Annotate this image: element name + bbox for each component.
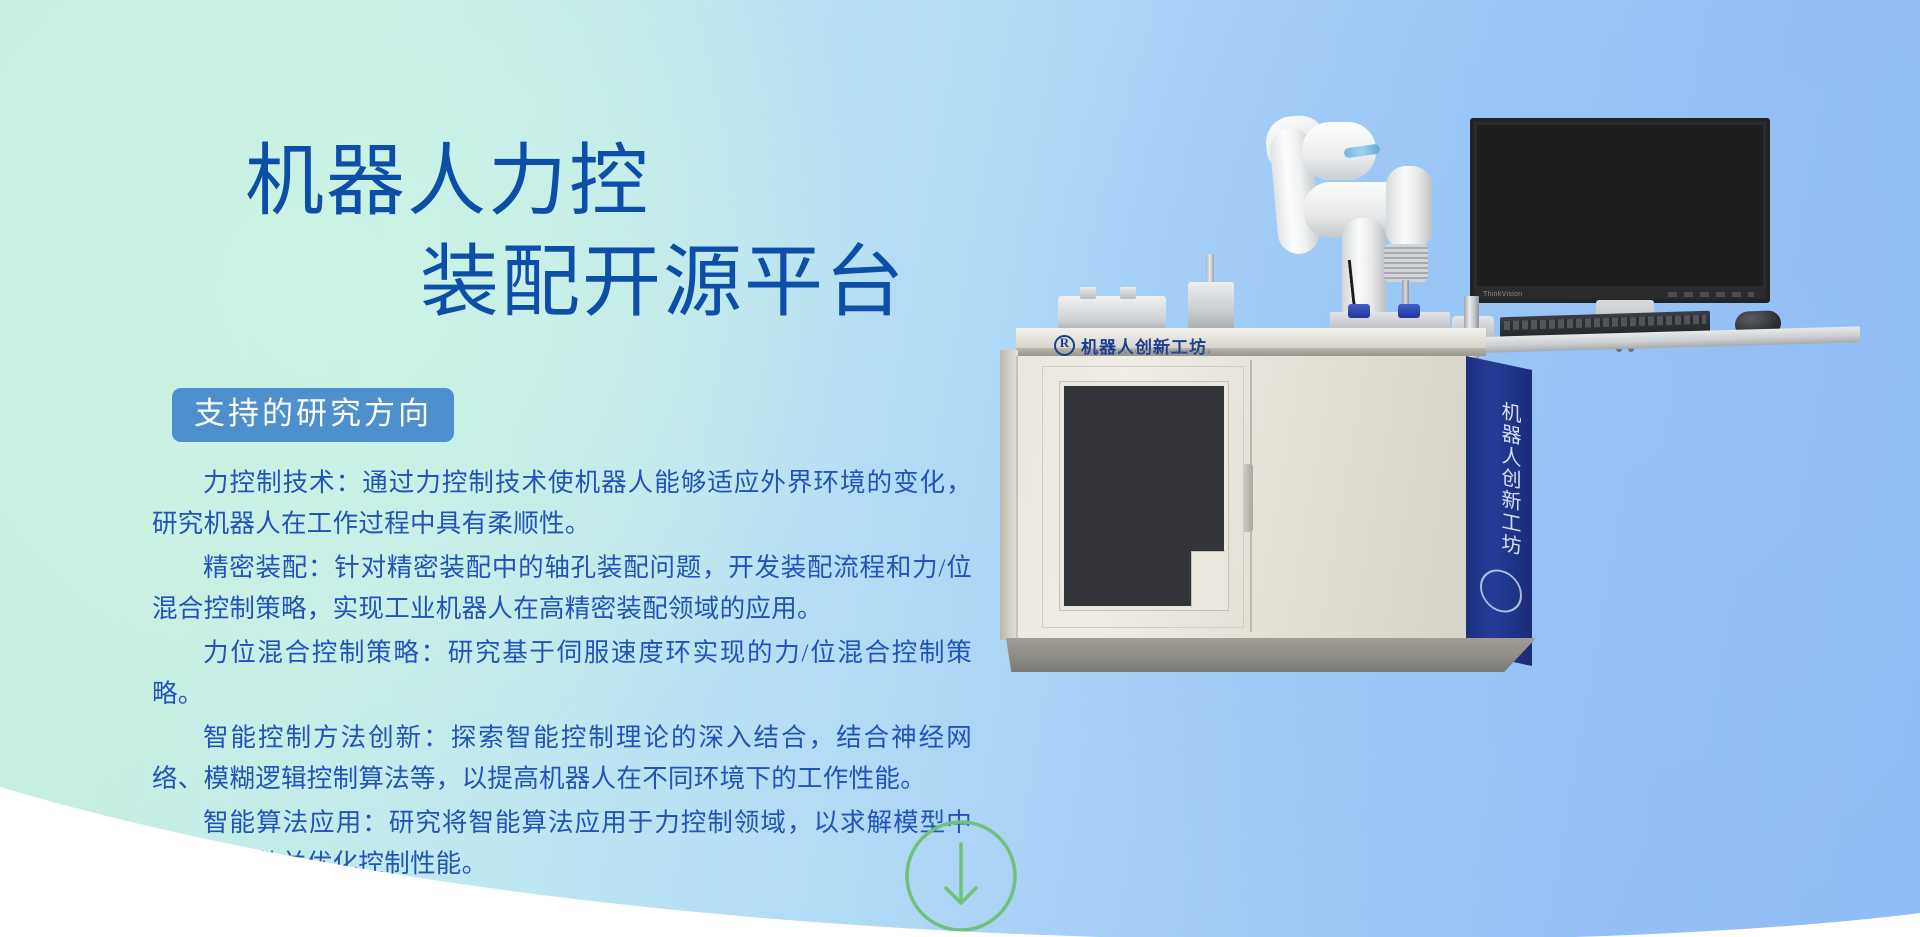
machine-photo: ThinkVision [1000,100,1860,790]
hero-text-column: 机器人力控 装配开源平台 支持的研究方向 力控制技术：通过力控制技术使机器人能够… [0,0,1010,937]
section-badge: 支持的研究方向 [172,388,454,442]
section-badge-wrap: 支持的研究方向 [172,388,454,442]
page-title: 机器人力控 装配开源平台 [0,132,980,334]
research-direction-item: 智能算法应用：研究将智能算法应用于力控制领域，以求解模型中的未知参数并优化控制性… [152,802,972,884]
cabinet-base [1006,638,1536,672]
fixture-blue-part-1 [1348,304,1370,318]
page-title-line-1: 机器人力控 [0,132,980,233]
cabinet-side-panel-text: 机器人创新工坊 [1484,396,1520,558]
fixture-tray [1058,296,1166,330]
robot-arm [1260,108,1520,338]
scroll-down-button[interactable] [903,818,1019,934]
monitor-buttons [1668,292,1754,297]
research-directions-list: 力控制技术：通过力控制技术使机器人能够适应外界环境的变化，研究机器人在工作过程中… [152,462,972,887]
cabinet-window [1060,382,1228,610]
arm-wrist-flange [1384,244,1428,282]
arm-forearm [1386,166,1432,250]
cabinet-door-handle [1243,464,1253,532]
brand-logo-icon [1054,335,1075,356]
research-direction-item: 力控制技术：通过力控制技术使机器人能够适应外界环境的变化，研究机器人在工作过程中… [152,462,972,544]
research-direction-item: 精密装配：针对精密装配中的轴孔装配问题，开发装配流程和力/位混合控制策略，实现工… [152,547,972,629]
fixture-blue-part-2 [1398,304,1420,318]
brand-name-en: ROBOT INNOVATION WORKSHOP [1084,350,1213,356]
research-direction-item: 智能控制方法创新：探索智能控制理论的深入结合，结合神经网络、模糊逻辑控制算法等，… [152,717,972,799]
fixture-block [1188,282,1234,330]
page-title-line-2: 装配开源平台 [0,233,980,334]
arrow-down-circle-icon[interactable] [903,818,1019,934]
hero-banner: ThinkVision [0,0,1920,937]
research-direction-item: 力位混合控制策略：研究基于伺服速度环实现的力/位混合控制策略。 [152,632,972,714]
cabinet-window-notch [1191,551,1225,607]
